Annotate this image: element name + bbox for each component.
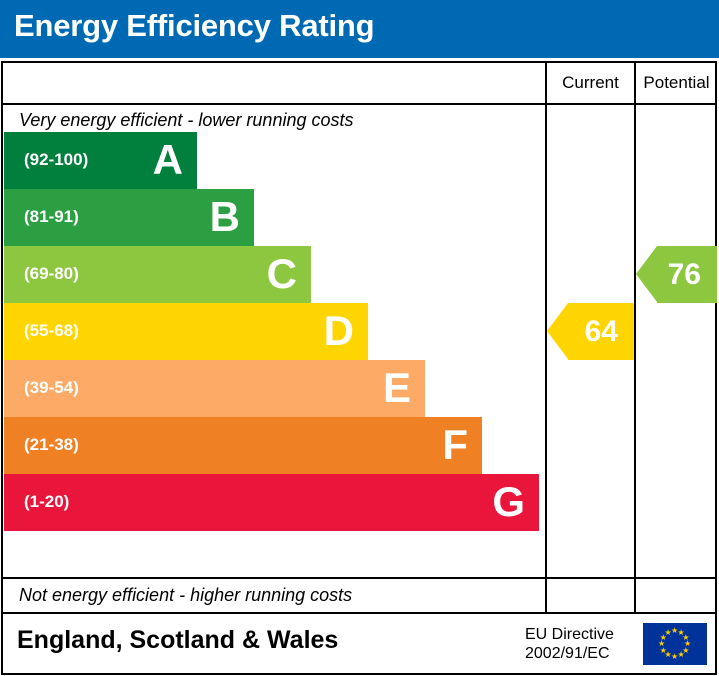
rating-chart: Current Potential Very energy efficient … [1,61,717,614]
band-g-range: (1-20) [24,492,69,512]
eu-star-icon: ★ [665,629,672,637]
page-title: Energy Efficiency Rating [14,8,374,44]
band-a-letter: A [153,134,183,186]
current-rating-marker: 64 [568,303,634,360]
band-c-letter: C [267,248,297,300]
band-c: (69-80) C [4,246,311,303]
band-d: (55-68) D [4,303,368,360]
footer-divider [3,577,715,579]
column-header-potential: Potential [636,73,717,93]
header-divider [3,103,715,105]
band-d-letter: D [324,305,354,357]
current-marker-arrow-icon [547,303,568,359]
potential-rating-marker: 76 [657,246,717,303]
band-f-range: (21-38) [24,435,79,455]
band-e: (39-54) E [4,360,425,417]
epc-certificate: Energy Efficiency Rating Current Potenti… [0,0,719,676]
footer: England, Scotland & Wales EU Directive 2… [1,614,717,675]
band-b-letter: B [210,191,240,243]
potential-rating-value: 76 [668,258,717,292]
eu-star-icon: ★ [678,651,685,659]
column-header-current: Current [547,73,634,93]
band-a-range: (92-100) [24,150,88,170]
title-bar: Energy Efficiency Rating [0,0,719,58]
eu-directive-line1: EU Directive [525,625,614,644]
band-g-letter: G [492,476,525,528]
band-e-letter: E [383,362,411,414]
potential-column-divider [634,63,636,612]
caption-top: Very energy efficient - lower running co… [19,110,354,131]
band-f: (21-38) F [4,417,482,474]
current-rating-value: 64 [585,315,634,349]
band-e-range: (39-54) [24,378,79,398]
eu-flag-icon: ★★★★★★★★★★★★ [643,623,707,665]
potential-marker-arrow-icon [636,246,657,302]
band-a: (92-100) A [4,132,197,189]
footer-region: England, Scotland & Wales [17,626,338,655]
eu-directive-text: EU Directive 2002/91/EC [525,625,614,663]
band-g: (1-20) G [4,474,539,531]
band-c-range: (69-80) [24,264,79,284]
caption-bottom: Not energy efficient - higher running co… [19,585,352,606]
band-f-letter: F [442,419,468,471]
eu-star-icon: ★ [671,653,678,661]
eu-directive-line2: 2002/91/EC [525,644,614,663]
band-b: (81-91) B [4,189,254,246]
band-d-range: (55-68) [24,321,79,341]
band-b-range: (81-91) [24,207,79,227]
